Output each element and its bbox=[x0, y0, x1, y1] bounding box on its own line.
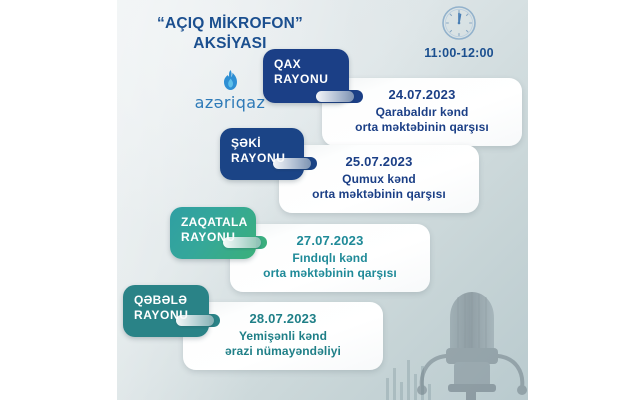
event-place-line-1: Qumux kənd bbox=[279, 172, 479, 186]
connector-link bbox=[176, 315, 214, 326]
district-suffix: RAYONU bbox=[274, 72, 339, 87]
district-tab[interactable]: QƏBƏLƏ RAYONU bbox=[123, 285, 209, 337]
district-name: ZAQATALA bbox=[181, 215, 246, 230]
page-title: “AÇIQ MİKROFON” AKSİYASI bbox=[125, 14, 335, 54]
info-card[interactable]: 24.07.2023 Qarabaldır kənd orta məktəbin… bbox=[322, 78, 522, 146]
district-name: QƏBƏLƏ bbox=[134, 293, 199, 308]
time-block: 11:00-12:00 bbox=[420, 5, 498, 60]
event-place-line-2: ərazi nümayəndəliyi bbox=[183, 344, 383, 358]
info-card[interactable]: 25.07.2023 Qumux kənd orta məktəbinin qa… bbox=[279, 145, 479, 213]
connector-link bbox=[273, 158, 311, 169]
district-name: ŞƏKİ bbox=[231, 136, 294, 151]
district-tab[interactable]: ŞƏKİ RAYONU bbox=[220, 128, 304, 180]
title-line-1: “AÇIQ MİKROFON” bbox=[157, 15, 303, 32]
microphone-icon bbox=[410, 284, 528, 400]
flame-icon bbox=[222, 70, 239, 91]
event-place-line-1: Qarabaldır kənd bbox=[322, 105, 522, 119]
event-place-line-2: orta məktəbinin qarşısı bbox=[322, 120, 522, 134]
connector-link bbox=[223, 237, 261, 248]
district-name: QAX bbox=[274, 57, 339, 72]
info-card[interactable]: 27.07.2023 Fındıqlı kənd orta məktəbinin… bbox=[230, 224, 430, 292]
event-place-line-1: Fındıqlı kənd bbox=[230, 251, 430, 265]
brand-name: azəriqaz bbox=[195, 93, 266, 112]
screenshot-root: “AÇIQ MİKROFON” AKSİYASI azəriqaz bbox=[0, 0, 637, 400]
clock-icon bbox=[441, 5, 477, 41]
district-tab[interactable]: ZAQATALA RAYONU bbox=[170, 207, 256, 259]
connector-link bbox=[316, 91, 354, 102]
event-place-line-1: Yemişənli kənd bbox=[183, 329, 383, 343]
time-range-label: 11:00-12:00 bbox=[420, 46, 498, 60]
event-place-line-2: orta məktəbinin qarşısı bbox=[230, 266, 430, 280]
info-card[interactable]: 28.07.2023 Yemişənli kənd ərazi nümayənd… bbox=[183, 302, 383, 370]
event-place-line-2: orta məktəbinin qarşısı bbox=[279, 187, 479, 201]
poster-canvas: “AÇIQ MİKROFON” AKSİYASI azəriqaz bbox=[117, 0, 528, 400]
